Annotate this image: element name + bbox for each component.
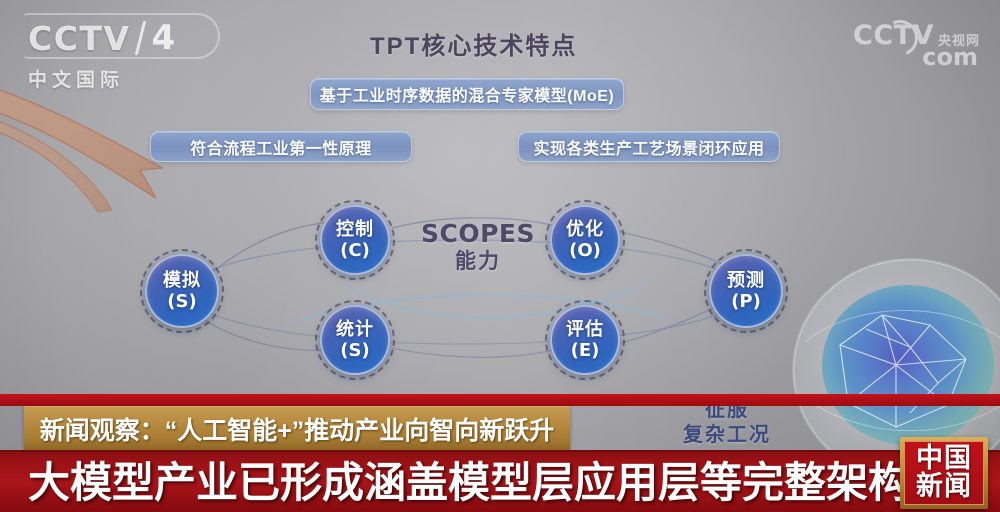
scopes-center-label: SCOPES 能力 [418,218,538,276]
lower-third-headline-text: 大模型产业已形成涵盖模型层应用层等完整架构 [28,458,910,508]
channel-bug-outline [24,13,220,59]
lower-third-topic-text: 新闻观察：“人工智能+”推动产业向智向新跃升 [40,411,555,447]
feature-box-closed-loop: 实现各类生产工艺场景闭环应用 [518,131,780,162]
node-simulate-label: 模拟 [163,271,201,291]
node-statistic: 统计 (S) [320,305,390,375]
node-statistic-label: 统计 [336,320,374,340]
node-predict-code: (P) [731,292,761,312]
node-control: 控制 (C) [320,205,390,275]
node-simulate-code: (S) [167,292,196,312]
node-evaluate-label: 评估 [566,320,604,340]
cctv-com-watermark: CCTV 央视网 com [853,22,980,70]
node-statistic-code: (S) [340,341,369,361]
slide-title: TPT核心技术特点 [370,26,577,61]
node-control-code: (C) [340,241,370,261]
node-simulate: 模拟 (S) [145,254,219,328]
orange-swoosh-graphic [0,70,190,260]
node-predict: 预测 (P) [709,254,783,328]
slide-caption-line2: 复杂工况 [662,423,792,448]
scopes-en-text: SCOPES [418,218,538,249]
node-predict-label: 预测 [727,271,765,291]
node-control-label: 控制 [336,220,374,240]
program-badge-line2: 新闻 [916,473,972,501]
lower-third-red-rule [0,394,1000,406]
program-badge: 中国 新闻 [900,437,988,509]
program-badge-inner: 中国 新闻 [904,441,984,505]
node-optimize-code: (O) [569,241,601,261]
channel-bug-name: 中文国际 [28,65,238,92]
feature-box-first-principles: 符合流程工业第一性原理 [150,131,412,162]
lower-third-topic-band: 新闻观察：“人工智能+”推动产业向智向新跃升 [24,406,570,451]
watermark-domain: com [922,43,978,71]
scopes-cn-text: 能力 [418,249,538,275]
lower-third-headline-bar: 大模型产业已形成涵盖模型层应用层等完整架构 [0,450,1000,512]
feature-box-moe: 基于工业时序数据的混合专家模型(MoE) [310,78,624,110]
channel-bug: CCTV 4 中文国际 [28,18,238,90]
node-evaluate: 评估 (E) [550,305,620,375]
node-optimize-label: 优化 [566,220,604,240]
node-optimize: 优化 (O) [550,205,620,275]
broadcast-frame: TPT核心技术特点 基于工业时序数据的混合专家模型(MoE) 符合流程工业第一性… [0,0,1000,512]
program-badge-line1: 中国 [916,445,972,473]
node-evaluate-code: (E) [571,341,600,361]
